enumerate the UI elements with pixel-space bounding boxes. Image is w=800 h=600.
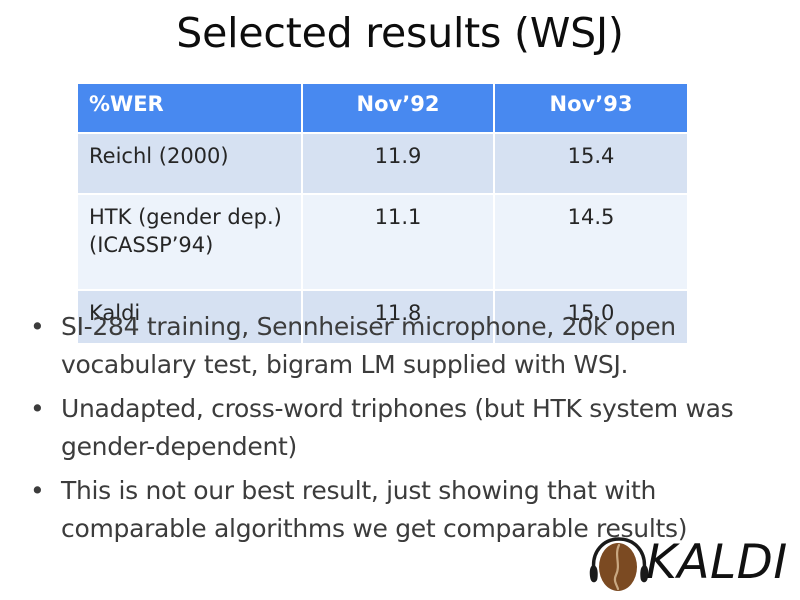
bullet-point-icon: • [30,390,50,428]
results-table: %WER Nov’92 Nov’93 Reichl (2000) 11.9 15… [78,84,687,343]
column-header-nov93: Nov’93 [495,84,687,134]
slide-canvas: Selected results (WSJ) %WER Nov’92 Nov’9… [0,0,800,599]
row-label-reichl: Reichl (2000) [78,134,303,195]
coffee-bean-headphones-icon [588,535,650,595]
column-header-wer: %WER [78,84,303,134]
bullet-point-icon: • [30,308,50,346]
cell-htk-nov92: 11.1 [303,195,495,291]
page-title: Selected results (WSJ) [0,7,800,59]
bullet-list: • SI-284 training, Sennheiser microphone… [24,308,776,554]
list-item: • Unadapted, cross-word triphones (but H… [24,390,776,466]
cell-htk-nov93: 14.5 [495,195,687,291]
table-row: Reichl (2000) 11.9 15.4 [78,134,687,195]
list-item: • SI-284 training, Sennheiser microphone… [24,308,776,384]
list-item-text: Unadapted, cross-word triphones (but HTK… [61,394,733,461]
cell-reichl-nov92: 11.9 [303,134,495,195]
bullet-point-icon: • [30,472,50,510]
table-row: HTK (gender dep.) (ICASSP’94) 11.1 14.5 [78,195,687,291]
kaldi-logo: KALDI [588,533,793,597]
column-header-nov92: Nov’92 [303,84,495,134]
cell-reichl-nov93: 15.4 [495,134,687,195]
row-label-htk: HTK (gender dep.) (ICASSP’94) [78,195,303,291]
list-item-text: SI-284 training, Sennheiser microphone, … [61,312,676,379]
table-header-row: %WER Nov’92 Nov’93 [78,84,687,134]
kaldi-wordmark: KALDI [646,533,788,593]
